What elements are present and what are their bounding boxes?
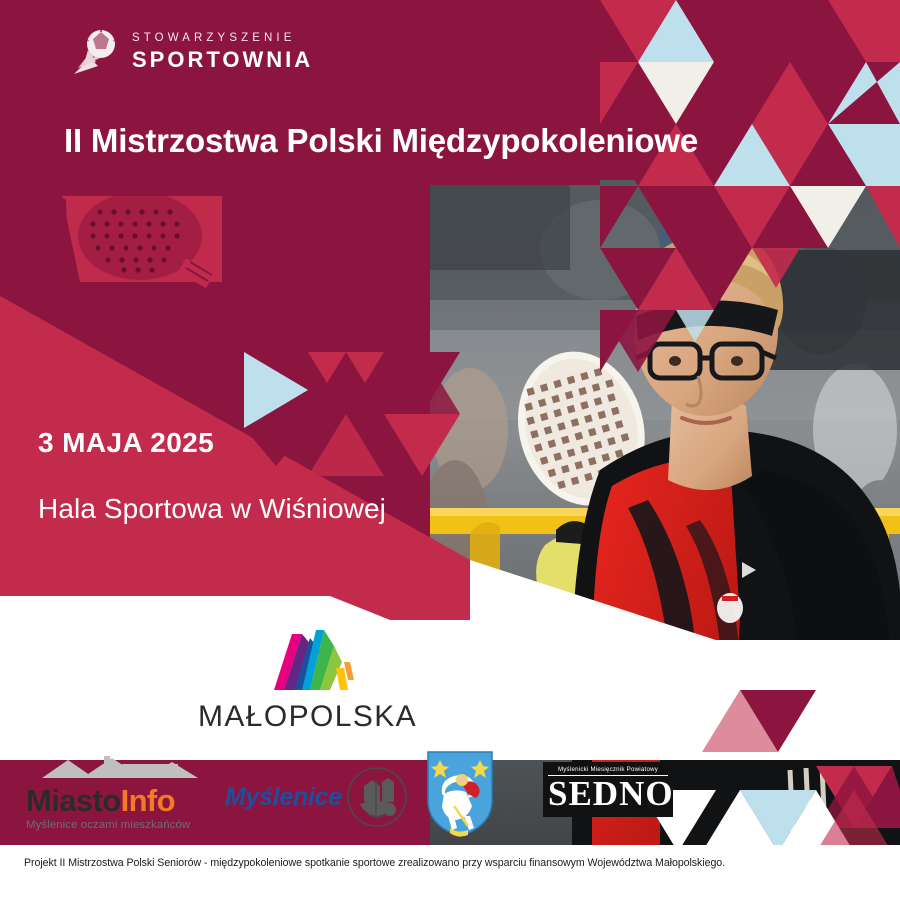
malopolska-label: MAŁOPOLSKA [198, 700, 414, 734]
sponsor-sedno: Myślenicki Miesięcznik Powiatowy SEDNO [543, 762, 673, 817]
sponsor-coat-of-arms [424, 750, 496, 843]
miastoinfo-name-part2: Info [121, 783, 175, 818]
footer-text: Projekt II Mistrzostwa Polski Seniorów -… [24, 856, 764, 870]
sports-ball-comet-icon [72, 28, 118, 76]
myslenice-tv-label: Myślenice [225, 783, 342, 812]
malopolska-logo: MAŁOPOLSKA [198, 616, 414, 734]
padel-racket-icon [60, 192, 222, 288]
malopolska-m-icon [244, 616, 368, 694]
event-date: 3 MAJA 2025 [38, 427, 214, 459]
page-title: II Mistrzostwa Polski Międzypokoleniowe [64, 122, 704, 160]
sponsor-logos: MiastoInfo Myślenice oczami mieszkańców … [0, 748, 900, 844]
footer-bar: Projekt II Mistrzostwa Polski Seniorów -… [0, 845, 900, 900]
coat-of-arms-icon [424, 750, 496, 838]
myslenice-tv-emblem-icon [346, 766, 408, 828]
organizer-line2: SPORTOWNIA [132, 49, 313, 71]
poster-root: STOWARZYSZENIE SPORTOWNIA II Mistrzostwa… [0, 0, 900, 900]
sponsor-miastoinfo: MiastoInfo Myślenice oczami mieszkańców [26, 756, 212, 831]
organizer-logo: STOWARZYSZENIE SPORTOWNIA [72, 28, 313, 76]
event-venue: Hala Sportowa w Wiśniowej [38, 493, 386, 525]
sponsor-myslenice-tv: Myślenice [225, 766, 408, 828]
rooftops-icon [26, 756, 212, 780]
miastoinfo-tagline: Myślenice oczami mieszkańców [26, 819, 212, 831]
organizer-line1: STOWARZYSZENIE [132, 33, 313, 45]
sedno-name: SEDNO [548, 777, 668, 811]
triangle-mosaic-top [600, 0, 900, 372]
miastoinfo-name-part1: Miasto [26, 783, 121, 818]
